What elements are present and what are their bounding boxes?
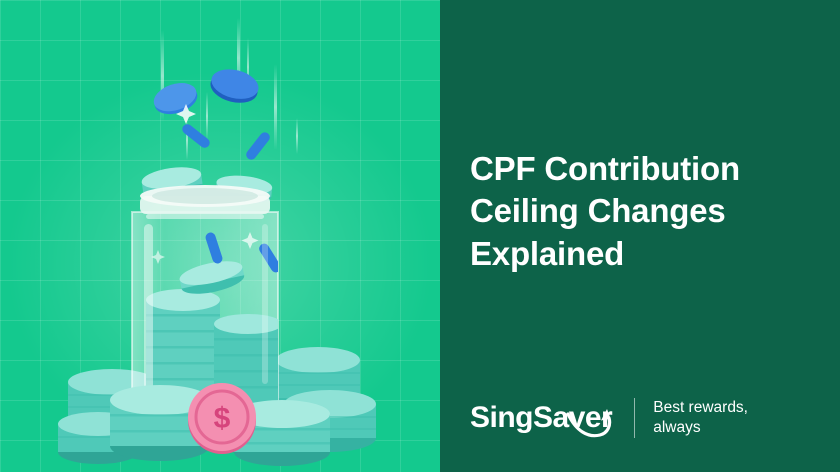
vertical-divider <box>634 398 635 438</box>
pink-dollar-coin: $ <box>188 383 256 454</box>
brand-wordmark-text: SingSaver <box>470 401 612 434</box>
glass-jar <box>132 185 283 418</box>
brand-logo-lockup: SingSaver Best rewards, always <box>470 396 748 440</box>
headline-line-2: Ceiling Changes <box>470 190 820 232</box>
illustration-panel: $ <box>0 0 440 472</box>
coin-jar-savings-illustration: $ <box>0 0 440 472</box>
tagline-line-2: always <box>653 418 748 438</box>
tagline-line-1: Best rewards, <box>653 398 748 418</box>
page-title: CPF Contribution Ceiling Changes Explain… <box>470 148 820 275</box>
headline-line-1: CPF Contribution <box>470 148 820 190</box>
headline-line-3: Explained <box>470 233 820 275</box>
brand-tagline: Best rewards, always <box>653 398 748 439</box>
text-panel: CPF Contribution Ceiling Changes Explain… <box>440 0 840 472</box>
brand-wordmark: SingSaver <box>470 403 612 433</box>
promo-banner: $ CPF Contribution Ceiling Changes Expla… <box>0 0 840 472</box>
svg-text:$: $ <box>214 402 231 435</box>
